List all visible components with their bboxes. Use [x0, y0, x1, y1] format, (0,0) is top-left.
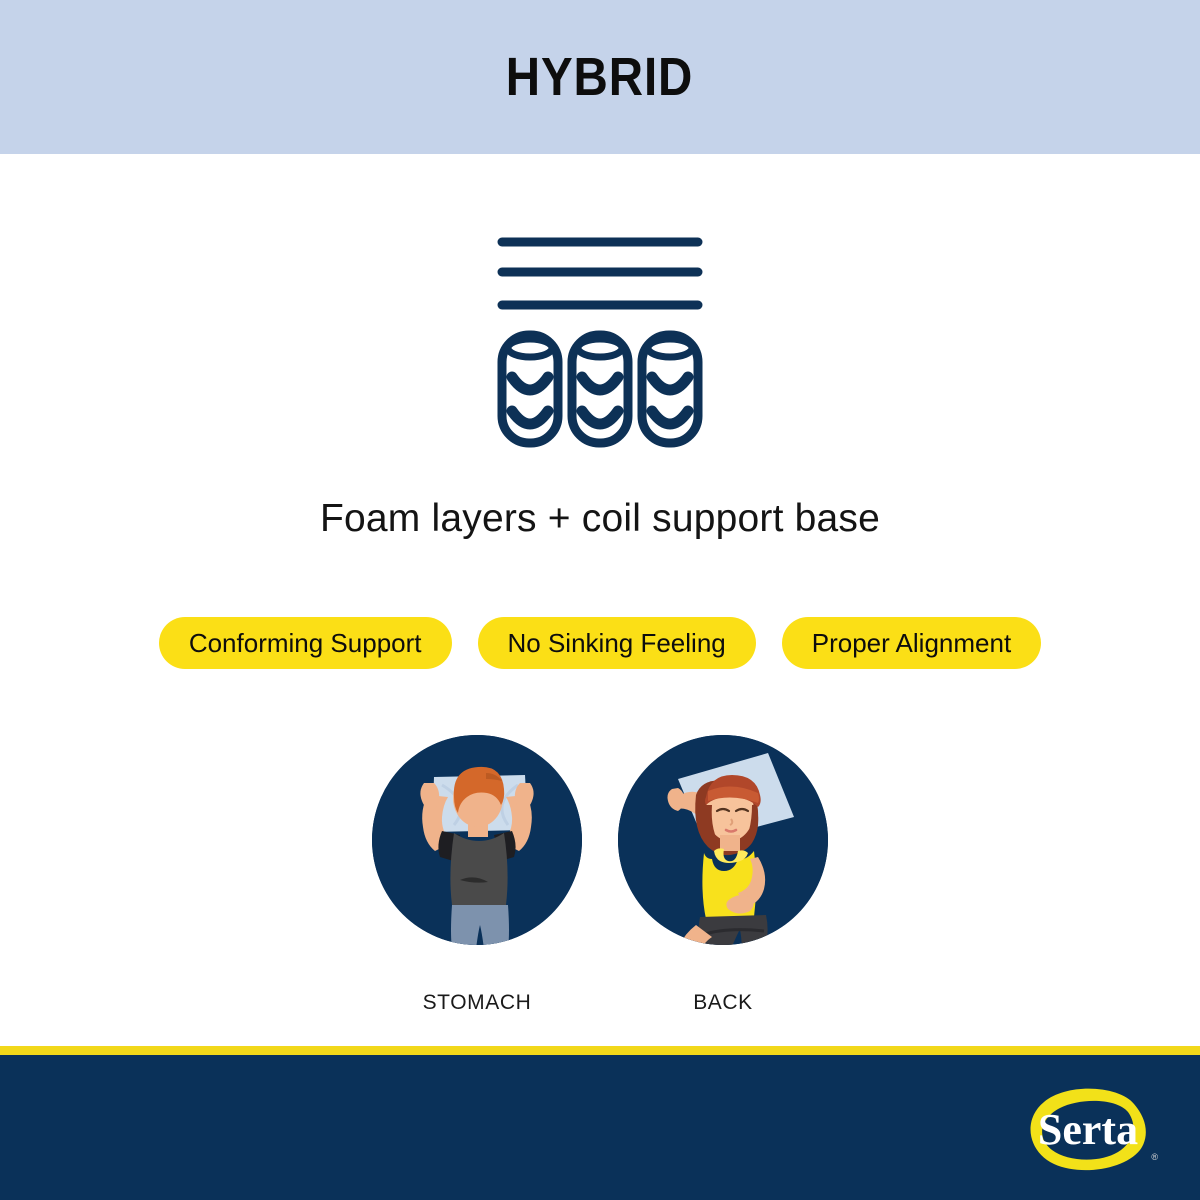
feature-pill-row: Conforming Support No Sinking Feeling Pr… [0, 617, 1200, 669]
stomach-sleeper-circle [372, 735, 582, 945]
feature-pill-proper-alignment[interactable]: Proper Alignment [782, 617, 1041, 669]
construction-description: Foam layers + coil support base [0, 497, 1200, 541]
feature-pill-no-sinking-feeling[interactable]: No Sinking Feeling [478, 617, 756, 669]
back-sleeper-circle [618, 735, 828, 945]
registered-trademark-mark: ® [1151, 1152, 1158, 1162]
footer-accent-stripe [0, 1046, 1200, 1055]
coil-1 [502, 335, 558, 443]
serta-logo[interactable]: Serta [1020, 1082, 1156, 1178]
header-banner: HYBRID [0, 0, 1200, 154]
hybrid-mattress-icon [490, 225, 710, 455]
sleep-position-label-back: BACK [693, 991, 753, 1015]
page-title: HYBRID [506, 46, 693, 108]
serta-wordmark: Serta [1038, 1105, 1138, 1154]
sleep-position-stomach[interactable]: STOMACH [372, 735, 582, 1015]
sleep-position-back[interactable]: BACK [618, 735, 828, 1015]
feature-pill-conforming-support[interactable]: Conforming Support [159, 617, 452, 669]
hybrid-mattress-icon-container [0, 225, 1200, 455]
hybrid-mattress-infographic: HYBRID [0, 0, 1200, 1200]
sleep-position-label-stomach: STOMACH [423, 991, 532, 1015]
stomach-sleeper-illustration [372, 735, 582, 945]
sleep-position-row: STOMACH [0, 735, 1200, 1015]
coil-3 [642, 335, 698, 443]
coil-2 [572, 335, 628, 443]
back-sleeper-illustration [618, 735, 828, 945]
